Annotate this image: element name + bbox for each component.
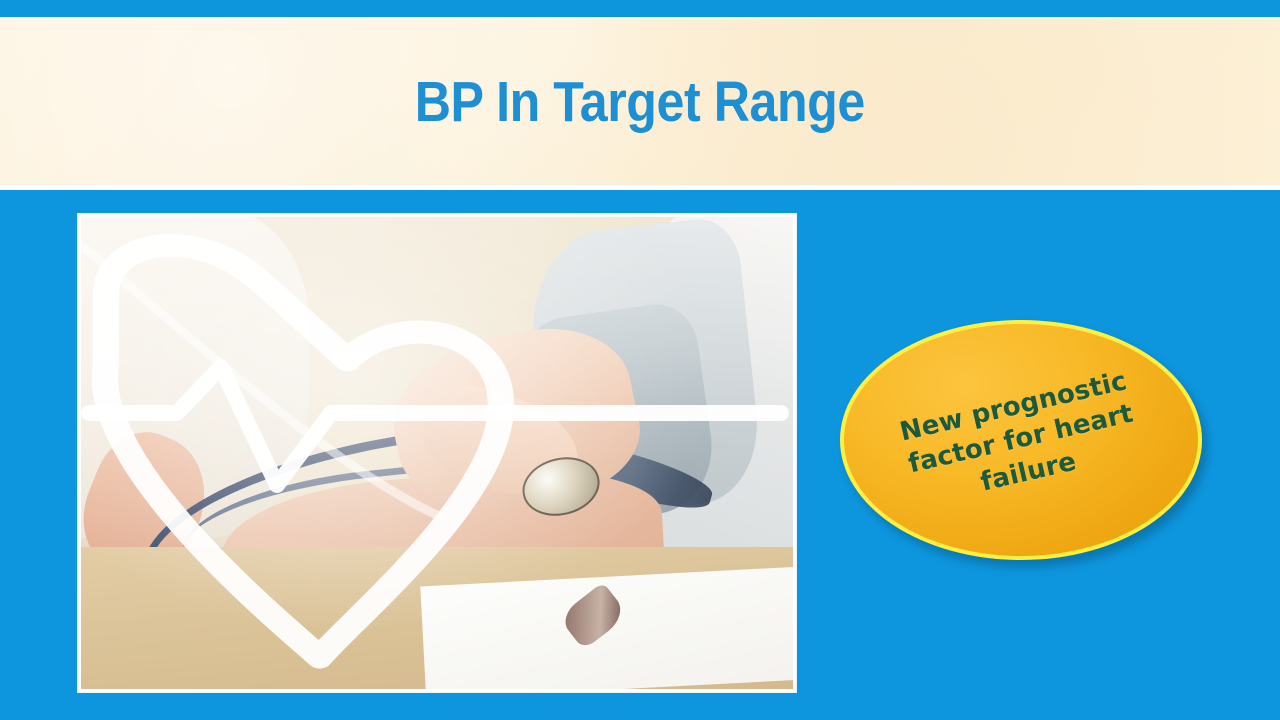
page-title: BP In Target Range (415, 69, 865, 135)
slide-canvas: BP In Target Range (0, 0, 1280, 720)
heart-ecg-overlay-icon (81, 217, 793, 689)
bp-measurement-photo (81, 217, 793, 689)
photo-card (78, 214, 796, 692)
status-badge-label: New prognostic factor for heart failure (878, 361, 1164, 519)
header-band: BP In Target Range (0, 19, 1280, 185)
top-accent-strip (0, 0, 1280, 17)
status-badge: New prognostic factor for heart failure (840, 320, 1202, 560)
